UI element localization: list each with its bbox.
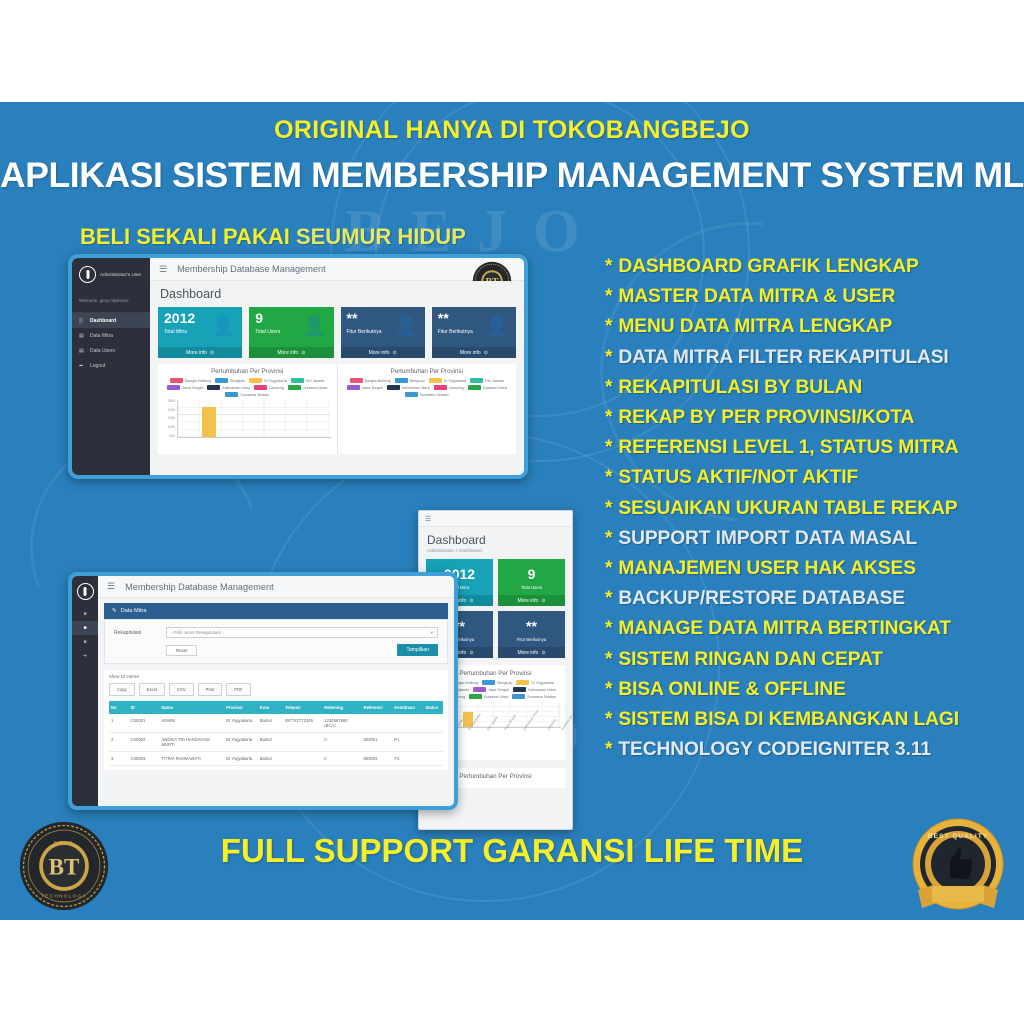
- stat-card-row: 2012Total Mitra👤More info⊙9Total Users👤M…: [158, 307, 516, 358]
- y-axis-ticks: 2500200015001000500: [164, 400, 177, 438]
- star-icon: *: [605, 407, 612, 428]
- feature-label: SISTEM BISA DI KEMBANGKAN LAGI: [618, 709, 959, 730]
- arrow-circle-icon: ⊙: [469, 650, 473, 656]
- mobile-page-title: Dashboard: [427, 533, 572, 547]
- y-tick-label: 2000: [168, 409, 175, 412]
- chart-title-2: Pertumbuhan Per Provinsi: [344, 368, 511, 375]
- app-title: Membership Database Management: [177, 264, 326, 274]
- legend-swatch: [350, 378, 363, 383]
- legend-item[interactable]: Sumatera Selatan: [512, 694, 556, 699]
- more-info-label: More info: [277, 350, 298, 356]
- legend-swatch: [513, 687, 526, 692]
- legend-swatch: [207, 385, 220, 390]
- table-cell: DI Yogyakarta: [224, 752, 258, 766]
- star-icon: *: [605, 437, 612, 458]
- legend-label: Lampung: [449, 386, 464, 390]
- legend-item[interactable]: Jawa Tengah: [473, 687, 509, 692]
- table-column-header[interactable]: Provinsi: [224, 701, 258, 714]
- star-icon: *: [605, 316, 612, 337]
- panel-header: ✎ Data Mitra: [104, 603, 448, 619]
- filter-label: Rekapitulasi: [114, 630, 156, 636]
- legend-swatch: [469, 694, 482, 699]
- user-add-icon: 👤: [303, 314, 327, 338]
- export-button-pdf[interactable]: PDF: [226, 683, 250, 696]
- feature-label: MENU DATA MITRA LENGKAP: [618, 316, 892, 337]
- legend-label: Kalimantan Utara: [222, 386, 250, 390]
- plot-grid: [177, 400, 331, 438]
- feature-label: BACKUP/RESTORE DATABASE: [618, 588, 905, 609]
- table-cell: [362, 714, 393, 733]
- sidebar: Administrator's User Welcome, geny niyam…: [72, 258, 150, 475]
- stat-card-value: **: [498, 618, 565, 634]
- legend-label: Bangka Belitung: [365, 379, 391, 383]
- feature-item: *BISA ONLINE & OFFLINE: [605, 675, 1024, 705]
- legend-swatch: [470, 378, 483, 383]
- feature-label: BISA ONLINE & OFFLINE: [618, 679, 845, 700]
- stat-card-label: Total Users: [255, 329, 280, 335]
- feature-label: SESUAIKAN UKURAN TABLE REKAP: [618, 498, 957, 519]
- legend-swatch: [468, 385, 481, 390]
- feature-label: SISTEM RINGAN DAN CEPAT: [618, 649, 883, 670]
- stat-card-label: Fitur Berikutnya: [347, 329, 382, 335]
- arrow-circle-icon: ⊙: [210, 350, 214, 356]
- legend-label: DKI Jakarta: [306, 379, 325, 383]
- sidebar-item-label: Dashboard: [90, 318, 116, 324]
- stat-card-label: Total Mitra: [164, 329, 187, 335]
- feature-item: *MASTER DATA MITRA & USER: [605, 282, 1024, 312]
- legend-item[interactable]: Kalimantan Utara: [207, 385, 250, 390]
- sidebar-collapsed: ■ ■ ■ ➜: [72, 576, 98, 806]
- table-column-header[interactable]: Status: [423, 701, 443, 714]
- legend-label: Kalimantan Utara: [528, 688, 556, 692]
- chart-panel-left: Pertumbuhan Per Provinsi Bangka Belitung…: [158, 364, 338, 454]
- export-button-excel[interactable]: Excel: [139, 683, 165, 696]
- svg-text:BEJO: BEJO: [54, 841, 74, 847]
- sidebar-item-label: Data Users: [90, 348, 115, 354]
- legend-label: Bengkulu: [497, 681, 512, 685]
- show-entries-control[interactable]: Show 10 entries: [109, 674, 443, 679]
- avatar: [79, 266, 96, 283]
- dashboard-content: Dashboard 2012Total Mitra👤More info⊙9Tot…: [150, 281, 524, 475]
- table-cell: 3: [109, 752, 129, 766]
- feature-label: REFERENSI LEVEL 1, STATUS MITRA: [618, 437, 958, 458]
- tagline-rest: SEUMUR HIDUP: [296, 224, 466, 249]
- legend-item[interactable]: DI Yogyakarta: [429, 378, 466, 383]
- star-icon: *: [605, 347, 612, 368]
- arrow-circle-icon: ⊙: [469, 598, 473, 604]
- star-icon: *: [605, 618, 612, 639]
- legend-swatch: [405, 392, 418, 397]
- more-info-label: More info: [186, 350, 207, 356]
- legend-item[interactable]: DKI Jakarta: [291, 378, 325, 383]
- sidebar-icon-data-users[interactable]: ■: [72, 635, 98, 649]
- table-cell: [423, 752, 443, 766]
- best-quality-seal: BEST QUALITY: [908, 818, 1008, 918]
- sidebar-user-collapsed: [72, 576, 98, 607]
- legend-swatch: [429, 378, 442, 383]
- legend-label: DI Yogyakarta: [531, 681, 553, 685]
- more-info-link[interactable]: More info⊙: [432, 347, 516, 358]
- legend-item[interactable]: Sulawesi Utara: [288, 385, 327, 390]
- more-info-link[interactable]: More info⊙: [341, 347, 425, 358]
- chevron-down-icon: ▾: [431, 630, 433, 636]
- legend-item[interactable]: Lampung: [434, 385, 464, 390]
- sidebar-item-label: Logout: [90, 363, 105, 369]
- legend-label: Sulawesi Utara: [483, 386, 507, 390]
- sidebar-item-dashboard[interactable]: ▒Dashboard: [72, 313, 150, 328]
- feature-label: MANAGE DATA MITRA BERTINGKAT: [618, 618, 951, 639]
- legend-label: Sumatera Selatan: [527, 695, 556, 699]
- legend-swatch: [215, 378, 228, 383]
- hamburger-icon[interactable]: ☰: [159, 264, 167, 275]
- app-window-data-mitra: ■ ■ ■ ➜ ☰ Membership Database Management…: [68, 572, 458, 810]
- filter-row: Rekapitulasi - Pilih Jenis Rekapitulasi …: [114, 627, 438, 638]
- table-column-header[interactable]: Kemitraan: [392, 701, 423, 714]
- chart-plot: 2500200015001000500: [164, 400, 331, 438]
- feature-label: SUPPORT IMPORT DATA MASAL: [618, 528, 917, 549]
- legend-label: Jawa Tengah: [182, 386, 203, 390]
- more-info-link[interactable]: More info⊙: [249, 347, 333, 358]
- feature-label: REKAP BY PER PROVINSI/KOTA: [618, 407, 914, 428]
- filter-actions: Reset Tampilkan: [114, 644, 438, 656]
- chart-row: Pertumbuhan Per Provinsi Bangka Belitung…: [158, 364, 516, 454]
- legend-swatch: [170, 378, 183, 383]
- legend-swatch: [516, 680, 529, 685]
- export-button-csv[interactable]: CSV: [169, 683, 194, 696]
- stat-card: **Fitur Berikutnya👤More info⊙: [341, 307, 425, 358]
- y-tick-label: 1500: [168, 417, 175, 420]
- stat-card: 9Total UsersMore info⊙: [498, 559, 565, 606]
- table-column-header[interactable]: Referensi: [362, 701, 393, 714]
- legend-swatch: [473, 687, 486, 692]
- star-icon: *: [605, 498, 612, 519]
- legend-item[interactable]: Lampung: [254, 385, 284, 390]
- reset-button[interactable]: Reset: [166, 645, 197, 656]
- svg-text:TECHNOLOGY: TECHNOLOGY: [41, 893, 87, 899]
- legend-label: Bengkulu: [410, 379, 425, 383]
- hamburger-icon-2[interactable]: ☰: [107, 581, 115, 592]
- avatar-collapsed: [77, 583, 94, 600]
- feature-list: *DASHBOARD GRAFIK LENGKAP*MASTER DATA MI…: [605, 252, 1024, 765]
- table-body: 1C00001ADMINDI YogyakartaBantul087722772…: [109, 714, 443, 766]
- user-add-icon: 👤: [394, 314, 418, 338]
- table-cell: [283, 752, 322, 766]
- sidebar-icon-dashboard[interactable]: ■: [72, 607, 98, 621]
- star-icon: *: [605, 256, 612, 277]
- table-cell: P2: [392, 752, 423, 766]
- topbar: ☰ Membership Database Management: [150, 258, 524, 281]
- star-icon: *: [605, 739, 612, 760]
- feature-item: *SESUAIKAN UKURAN TABLE REKAP: [605, 494, 1024, 524]
- table-cell: [283, 733, 322, 752]
- legend-item[interactable]: DI Yogyakarta: [249, 378, 286, 383]
- star-icon: *: [605, 649, 612, 670]
- table-cell: C00001: [129, 714, 160, 733]
- tagline-strong: BELI SEKALI PAKAI: [80, 224, 296, 249]
- banner-footer-text: FULL SUPPORT GARANSI LIFE TIME: [0, 832, 1024, 870]
- stat-card: **Fitur Berikutnya👤More info⊙: [432, 307, 516, 358]
- sidebar-item-label: Data Mitra: [90, 333, 113, 339]
- table-cell: 900002: [362, 752, 393, 766]
- svg-text:BEST QUALITY: BEST QUALITY: [928, 833, 988, 840]
- feature-item: *REKAP BY PER PROVINSI/KOTA: [605, 403, 1024, 433]
- legend-swatch: [482, 680, 495, 685]
- table-cell: Bantul: [258, 714, 283, 733]
- feature-item: *MANAJEMEN USER HAK AKSES: [605, 554, 1024, 584]
- stat-card-label: Fitur Berikutnya: [438, 329, 473, 335]
- rekapitulasi-select[interactable]: - Pilih Jenis Rekapitulasi - ▾: [166, 627, 438, 638]
- legend-swatch: [512, 694, 525, 699]
- table-cell: 0: [322, 752, 361, 766]
- table-cell: 1234567890 (BCA): [322, 714, 361, 733]
- legend-item[interactable]: DI Yogyakarta: [516, 680, 553, 685]
- legend-label: Jawa Tengah: [362, 386, 383, 390]
- legend-item[interactable]: Sulawesi Utara: [469, 694, 508, 699]
- feature-label: DASHBOARD GRAFIK LENGKAP: [618, 256, 918, 277]
- table-row: 1C00001ADMINDI YogyakartaBantul087722772…: [109, 714, 443, 733]
- legend-label: Sumatera Selatan: [420, 393, 449, 397]
- hamburger-icon-mobile[interactable]: ☰: [425, 515, 431, 523]
- legend-swatch: [387, 385, 400, 390]
- chart-legend: Bangka BelitungBengkuluDI YogyakartaDKI …: [164, 378, 331, 397]
- stat-card: **Fitur BerikutnyaMore info⊙: [498, 611, 565, 658]
- sidebar-welcome: Welcome, geny niyamoro: [72, 290, 150, 313]
- sidebar-user-title: Administrator's User: [100, 272, 141, 277]
- feature-item: *DATA MITRA FILTER REKAPITULASI: [605, 343, 1024, 373]
- table-row: 3C00003FITRIA RAHMAWATIDI YogyakartaBant…: [109, 752, 443, 766]
- mobile-topbar: ☰: [419, 511, 572, 527]
- arrow-circle-icon: ⊙: [392, 350, 396, 356]
- export-button-print[interactable]: Print: [198, 683, 223, 696]
- feature-label: REKAPITULASI BY BULAN: [618, 377, 862, 398]
- table-cell: [423, 733, 443, 752]
- star-icon: *: [605, 709, 612, 730]
- feature-item: *REFERENSI LEVEL 1, STATUS MITRA: [605, 433, 1024, 463]
- more-info-link[interactable]: More info⊙: [498, 647, 565, 658]
- promo-banner: BEJO BEJO ORIGINAL HANYA DI TOKOBANGBEJO…: [0, 102, 1024, 920]
- feature-item: *BACKUP/RESTORE DATABASE: [605, 584, 1024, 614]
- more-info-label: More info: [369, 350, 390, 356]
- more-info-link[interactable]: More info⊙: [498, 595, 565, 606]
- legend-swatch: [249, 378, 262, 383]
- banner-headline: APLIKASI SISTEM MEMBERSHIP MANAGEMENT SY…: [0, 155, 1024, 196]
- sidebar-icon-logout[interactable]: ➜: [72, 649, 98, 663]
- legend-item[interactable]: Sumatera Selatan: [225, 392, 269, 397]
- sidebar-icon-data-mitra[interactable]: ■: [72, 621, 98, 635]
- chart-title: Pertumbuhan Per Provinsi: [164, 368, 331, 375]
- arrow-circle-icon: ⊙: [301, 350, 305, 356]
- legend-label: Sulawesi Utara: [484, 695, 508, 699]
- stat-card: 9Total Users👤More info⊙: [249, 307, 333, 358]
- feature-item: *MENU DATA MITRA LENGKAP: [605, 312, 1024, 342]
- banner-subheadline: ORIGINAL HANYA DI TOKOBANGBEJO: [0, 116, 1024, 145]
- table-cell: 1: [109, 714, 129, 733]
- more-info-link[interactable]: More info⊙: [158, 347, 242, 358]
- feature-item: *SISTEM BISA DI KEMBANGKAN LAGI: [605, 705, 1024, 735]
- legend-swatch: [347, 385, 360, 390]
- legend-label: Jawa Tengah: [488, 688, 509, 692]
- star-icon: *: [605, 377, 612, 398]
- chart-panel-right: Pertumbuhan Per Provinsi Bangka Belitung…: [338, 364, 517, 454]
- arrow-circle-icon: ⊙: [541, 650, 545, 656]
- legend-item[interactable]: Bangka Belitung: [170, 378, 211, 383]
- table-cell: C00002: [129, 733, 160, 752]
- legend-label: DKI Jakarta: [485, 379, 504, 383]
- table-cell: P1: [392, 733, 423, 752]
- feature-item: *DASHBOARD GRAFIK LENGKAP: [605, 252, 1024, 282]
- legend-label: Sulawesi Utara: [303, 386, 327, 390]
- feature-item: *REKAPITULASI BY BULAN: [605, 373, 1024, 403]
- table-cell: 2: [109, 733, 129, 752]
- legend-swatch: [291, 378, 304, 383]
- feature-label: STATUS AKTIF/NOT AKTIF: [618, 467, 858, 488]
- table-cell: Bantul: [258, 752, 283, 766]
- star-icon: *: [605, 528, 612, 549]
- table-column-header[interactable]: Kota: [258, 701, 283, 714]
- legend-item[interactable]: Sulawesi Utara: [468, 385, 507, 390]
- sidebar-item-logout[interactable]: ➦Logout: [72, 358, 150, 373]
- arrow-circle-icon: ⊙: [484, 350, 488, 356]
- feature-item: *SUPPORT IMPORT DATA MASAL: [605, 524, 1024, 554]
- feature-label: MASTER DATA MITRA & USER: [618, 286, 895, 307]
- y-tick-label: 500: [170, 435, 175, 438]
- table-column-header[interactable]: No: [109, 701, 129, 714]
- table-cell: 900001: [362, 733, 393, 752]
- select-value: - Pilih Jenis Rekapitulasi -: [171, 630, 224, 635]
- feature-item: *SISTEM RINGAN DAN CEPAT: [605, 645, 1024, 675]
- show-entries-label: Show 10 entries: [109, 674, 139, 679]
- legend-item[interactable]: Bangka Belitung: [350, 378, 391, 383]
- sidebar-item-data-mitra[interactable]: ▤Data Mitra: [72, 328, 150, 343]
- table-cell: 087722772345: [283, 714, 322, 733]
- legend-item[interactable]: Bengkulu: [482, 680, 512, 685]
- file-icon: ▤: [79, 333, 86, 339]
- stat-card: 2012Total Mitra👤More info⊙: [158, 307, 242, 358]
- topbar-2: ☰ Membership Database Management: [98, 576, 454, 598]
- table-cell: DI Yogyakarta: [224, 714, 258, 733]
- table-cell: FITRIA RAHMAWATI: [160, 752, 225, 766]
- stat-card-value: **: [347, 310, 358, 326]
- export-button-copy[interactable]: Copy: [109, 683, 135, 696]
- legend-item[interactable]: Bengkulu: [395, 378, 425, 383]
- export-button-group: CopyExcelCSVPrintPDF: [109, 683, 443, 696]
- table-cell: ANDIKA TRI HANDAYANI MURTI: [160, 733, 225, 752]
- legend-label: Bangka Belitung: [185, 379, 211, 383]
- edit-icon: ✎: [112, 608, 117, 614]
- arrow-circle-icon: ⊙: [541, 598, 545, 604]
- file-icon: ▤: [79, 348, 86, 354]
- data-mitra-content: ✎ Data Mitra Rekapitulasi - Pilih Jenis …: [98, 598, 454, 806]
- legend-label: Sumatera Selatan: [240, 393, 269, 397]
- legend-item[interactable]: Jawa Tengah: [167, 385, 203, 390]
- more-info-label: More info: [517, 598, 538, 604]
- user-add-icon: 👤: [212, 314, 236, 338]
- legend-swatch: [434, 385, 447, 390]
- table-column-header[interactable]: Nama: [160, 701, 225, 714]
- logout-icon: ➦: [79, 363, 86, 369]
- sidebar-user: Administrator's User: [72, 258, 150, 290]
- table-header-row: NoIDNamaProvinsiKotaTeleponRekeningRefer…: [109, 701, 443, 714]
- legend-label: DI Yogyakarta: [264, 379, 286, 383]
- stat-card-value: 2012: [164, 310, 195, 326]
- panel-title: Data Mitra: [121, 608, 147, 614]
- table-cell: Bantul: [258, 733, 283, 752]
- more-info-label: More info: [460, 350, 481, 356]
- svg-text:BT: BT: [49, 854, 80, 879]
- table-column-header[interactable]: Rekening: [322, 701, 361, 714]
- legend-item[interactable]: Jawa Tengah: [347, 385, 383, 390]
- stat-card-value: 9: [498, 566, 565, 582]
- legend-item[interactable]: Bengkulu: [215, 378, 245, 383]
- table-cell: [423, 714, 443, 733]
- legend-label: DI Yogyakarta: [444, 379, 466, 383]
- chart-legend-2: Bangka BelitungBengkuluDI YogyakartaDKI …: [344, 378, 511, 397]
- legend-item[interactable]: Kalimantan Utara: [387, 385, 430, 390]
- feature-label: TECHNOLOGY CODEIGNITER 3.11: [618, 739, 931, 760]
- stat-card-value: 9: [255, 310, 263, 326]
- filter-panel: Rekapitulasi - Pilih Jenis Rekapitulasi …: [104, 619, 448, 664]
- y-tick-label: 1000: [168, 426, 175, 429]
- legend-item[interactable]: Kalimantan Utara: [513, 687, 556, 692]
- user-add-icon: 👤: [485, 314, 509, 338]
- table-cell: DI Yogyakarta: [224, 733, 258, 752]
- page-title: Dashboard: [160, 287, 516, 301]
- stat-card-label: Total Users: [498, 585, 565, 590]
- table-row: 2C00002ANDIKA TRI HANDAYANI MURTIDI Yogy…: [109, 733, 443, 752]
- legend-swatch: [225, 392, 238, 397]
- sidebar-menu: ▒Dashboard▤Data Mitra▤Data Users➦Logout: [72, 313, 150, 373]
- star-icon: *: [605, 558, 612, 579]
- star-icon: *: [605, 588, 612, 609]
- tampilkan-button[interactable]: Tampilkan: [397, 644, 438, 656]
- banner-tagline: BELI SEKALI PAKAI SEUMUR HIDUP: [80, 224, 466, 250]
- legend-label: Lampung: [269, 386, 284, 390]
- star-icon: *: [605, 467, 612, 488]
- more-info-label: More info: [517, 650, 538, 656]
- stat-card-value: **: [438, 310, 449, 326]
- table-cell: 0: [322, 733, 361, 752]
- data-mitra-table: NoIDNamaProvinsiKotaTeleponRekeningRefer…: [109, 701, 443, 766]
- sidebar-item-data-users[interactable]: ▤Data Users: [72, 343, 150, 358]
- star-icon: *: [605, 679, 612, 700]
- feature-label: DATA MITRA FILTER REKAPITULASI: [618, 347, 948, 368]
- table-column-header[interactable]: Telepon: [283, 701, 322, 714]
- legend-label: Kalimantan Utara: [402, 386, 430, 390]
- app-window-dashboard: Administrator's User Welcome, geny niyam…: [68, 254, 528, 479]
- table-panel: Show 10 entries CopyExcelCSVPrintPDF NoI…: [104, 670, 448, 770]
- table-cell: ADMIN: [160, 714, 225, 733]
- feature-item: *MANAGE DATA MITRA BERTINGKAT: [605, 614, 1024, 644]
- grid-icon: ▒: [79, 318, 86, 324]
- legend-item[interactable]: Sumatera Selatan: [405, 392, 449, 397]
- legend-item[interactable]: DKI Jakarta: [470, 378, 504, 383]
- table-cell: [392, 714, 423, 733]
- legend-swatch: [395, 378, 408, 383]
- feature-item: *TECHNOLOGY CODEIGNITER 3.11: [605, 735, 1024, 765]
- breadcrumb: Administrator > Dashboard: [427, 548, 572, 553]
- app-title-2: Membership Database Management: [125, 582, 274, 592]
- legend-swatch: [288, 385, 301, 390]
- legend-label: Bengkulu: [230, 379, 245, 383]
- stat-card-label: Fitur Berikutnya: [498, 637, 565, 642]
- bt-technology-seal: BT BEJO TECHNOLOGY: [18, 820, 110, 912]
- legend-swatch: [167, 385, 180, 390]
- legend-swatch: [254, 385, 267, 390]
- table-column-header[interactable]: ID: [129, 701, 160, 714]
- feature-item: *STATUS AKTIF/NOT AKTIF: [605, 463, 1024, 493]
- feature-label: MANAJEMEN USER HAK AKSES: [618, 558, 916, 579]
- star-icon: *: [605, 286, 612, 307]
